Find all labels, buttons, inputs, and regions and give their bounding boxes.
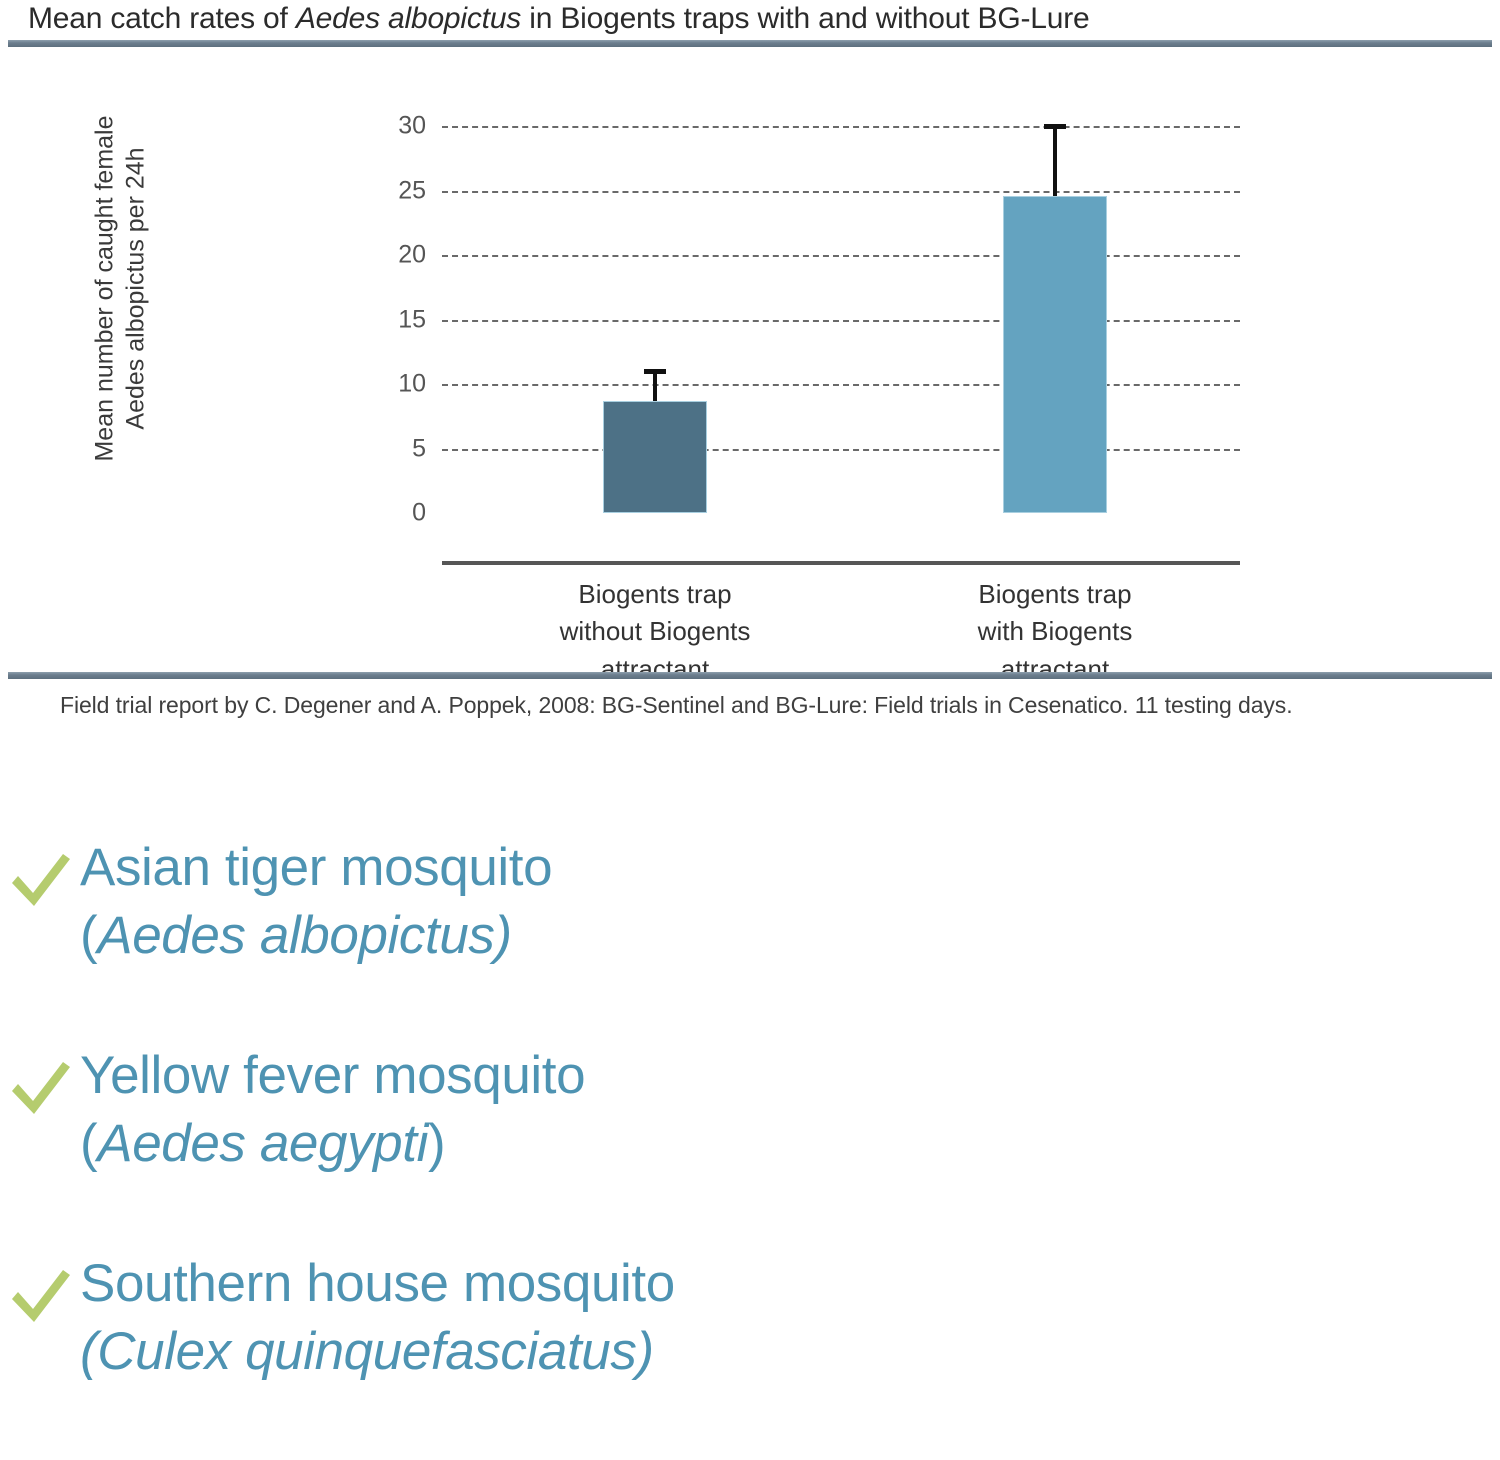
check-icon [8,1058,72,1122]
check-icon [8,850,72,914]
y-tick-label-5: 25 [398,176,426,205]
y-tick-label-1: 5 [412,434,426,463]
title-species-name: Aedes albopictus [296,2,521,35]
list-item: Asian tiger mosquito (Aedes albopictus) [0,836,1500,1044]
gridline-10 [442,384,1240,386]
error-bar-1 [1053,126,1057,196]
species-common-name-0: Asian tiger mosquito [80,834,552,902]
species-scientific-name-2: (Culex quinquefasciatus) [80,1318,675,1386]
list-item: Southern house mosquito (Culex quinquefa… [0,1252,1500,1460]
close-paren-1: ) [428,1114,445,1173]
species-list: Asian tiger mosquito (Aedes albopictus) … [0,836,1500,1460]
species-name-2: Southern house mosquito (Culex quinquefa… [80,1250,675,1386]
bar-0 [603,401,707,513]
gridline-5 [442,449,1240,451]
y-tick-label-3: 15 [398,305,426,334]
y-tick-label-2: 10 [398,370,426,399]
open-paren-2: ( [80,1322,97,1381]
y-tick-label-6: 30 [398,112,426,141]
species-scientific-name-1: (Aedes aegypti) [80,1110,585,1178]
gridline-30 [442,126,1240,128]
species-name-1: Yellow fever mosquito (Aedes aegypti) [80,1042,585,1178]
bar-1 [1003,196,1107,513]
check-icon [8,1266,72,1330]
title-text-before: Mean catch rates of [28,2,296,35]
title-text-after: in Biogents traps with and without BG-Lu… [521,2,1089,35]
x-axis-line [442,561,1240,565]
divider-top [8,40,1492,47]
error-bar-cap-0 [644,369,666,374]
species-latin-0: Aedes albopictus [97,906,494,965]
page-title: Mean catch rates of Aedes albopictus in … [28,2,1478,36]
species-latin-1: Aedes aegypti [97,1114,428,1173]
gridline-15 [442,320,1240,322]
y-tick-label-0: 0 [412,499,426,528]
close-paren-2: ) [636,1322,653,1381]
error-bar-0 [653,371,657,401]
species-scientific-name-0: (Aedes albopictus) [80,902,552,970]
open-paren-0: ( [80,906,97,965]
source-caption: Field trial report by C. Degener and A. … [60,692,1293,719]
species-common-name-2: Southern house mosquito [80,1250,675,1318]
list-item: Yellow fever mosquito (Aedes aegypti) [0,1044,1500,1252]
open-paren-1: ( [80,1114,97,1173]
plot-area: 051015202530 [442,126,1240,513]
bar-chart: Mean number of caught female Aedes albop… [0,48,1500,668]
gridline-25 [442,191,1240,193]
y-tick-label-4: 20 [398,241,426,270]
divider-bottom [8,672,1492,679]
error-bar-cap-1 [1044,124,1066,129]
y-axis-label: Mean number of caught female Aedes albop… [90,49,151,529]
species-latin-2: Culex quinquefasciatus [97,1322,636,1381]
close-paren-0: ) [495,906,512,965]
gridline-20 [442,255,1240,257]
species-common-name-1: Yellow fever mosquito [80,1042,585,1110]
species-name-0: Asian tiger mosquito (Aedes albopictus) [80,834,552,970]
